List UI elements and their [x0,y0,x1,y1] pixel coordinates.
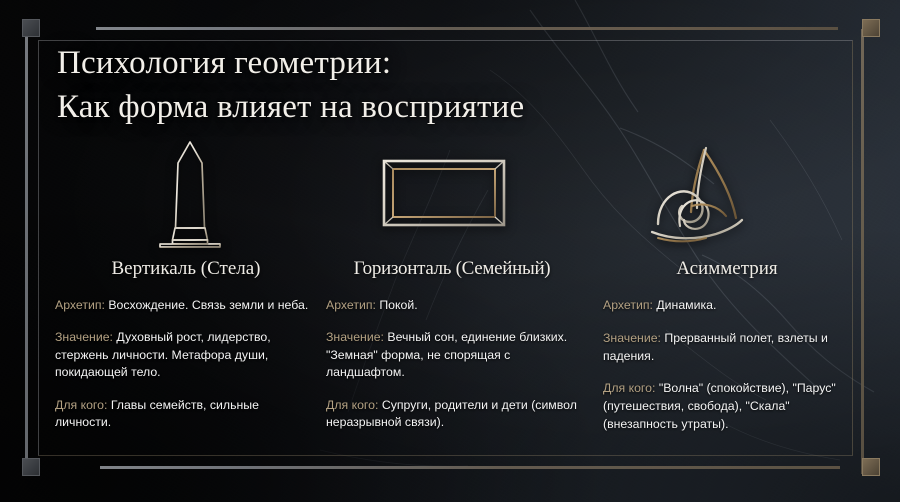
entry-label: Для кого: [55,398,107,412]
column-heading: Горизонталь (Семейный) [326,258,578,280]
entry-label: Для кого: [326,398,378,412]
slide-title: Психология геометрии: Как форма влияет н… [57,42,524,129]
entry-label: Архетип: [326,298,376,312]
corner-square-bottom-left [22,458,40,476]
column-heading: Асимметрия [603,258,851,280]
entry-label: Архетип: [603,298,653,312]
corner-square-top-left [22,19,40,37]
corner-square-bottom-right [862,458,880,476]
entry-meaning: Значение: Духовный рост, лидерство, стер… [55,329,317,381]
entry-label: Для кого: [603,381,655,395]
frame-line-left [25,32,28,466]
rectangle-frame-icon [338,132,550,254]
entry-archetype: Архетип: Динамика. [603,297,851,315]
entry-label: Архетип: [55,298,105,312]
frame-line-right [861,29,864,474]
entry-value: Восхождение. Связь земли и неба. [108,298,308,312]
entry-label: Значение: [603,331,661,345]
column-horizontal: Горизонталь (Семейный) Архетип: Покой. З… [326,258,578,432]
entry-value: Динамика. [656,298,716,312]
entry-meaning: Значение: Вечный сон, единение близких. … [326,329,578,381]
frame-line-bottom [100,466,840,469]
entry-audience: Для кого: "Волна" (спокойствие), "Парус"… [603,380,851,433]
entry-label: Значение: [55,330,113,344]
column-vertical: Вертикаль (Стела) Архетип: Восхождение. … [55,258,317,432]
entry-value: Покой. [379,298,417,312]
slide-canvas: Психология геометрии: Как форма влияет н… [0,0,900,502]
corner-square-top-right [862,19,880,37]
entry-audience: Для кого: Главы семейств, сильные личнос… [55,397,317,432]
entry-label: Значение: [326,330,384,344]
entry-archetype: Архетип: Восхождение. Связь земли и неба… [55,297,317,314]
wave-sail-icon [608,132,790,254]
icon-row [38,132,851,254]
column-asymmetry: Асимметрия Архетип: Динамика. Значение: … [603,258,851,434]
entry-archetype: Архетип: Покой. [326,297,578,314]
frame-line-top [96,27,838,30]
column-heading: Вертикаль (Стела) [55,258,317,280]
obelisk-icon [104,132,276,254]
entry-meaning: Значение: Прерванный полет, взлеты и пад… [603,330,851,366]
entry-audience: Для кого: Супруги, родители и дети (симв… [326,397,578,432]
